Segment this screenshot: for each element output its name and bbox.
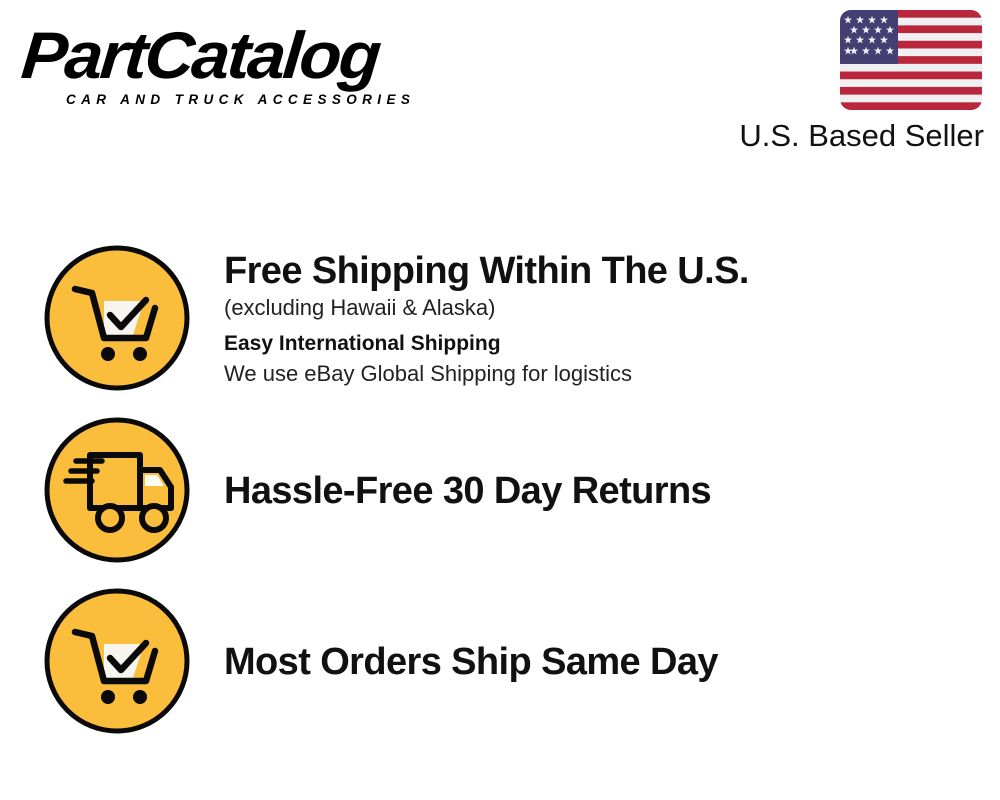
- site-logo[interactable]: PartCatalog CAR AND TRUCK ACCESSORIES: [22, 22, 492, 108]
- feature-text: Free Shipping Within The U.S. (excluding…: [224, 247, 1000, 389]
- feature-title: Free Shipping Within The U.S.: [224, 249, 1000, 293]
- feature-text: Hassle-Free 30 Day Returns: [224, 467, 1000, 513]
- logo-tagline: CAR AND TRUCK ACCESSORIES: [66, 92, 492, 108]
- us-based-seller-label: U.S. Based Seller: [739, 118, 984, 154]
- feature-subtitle-strong: Easy International Shipping: [224, 329, 1000, 359]
- feature-title: Most Orders Ship Same Day: [224, 640, 1000, 684]
- us-flag-icon: [840, 10, 982, 110]
- logo-wordmark: PartCatalog: [19, 22, 514, 88]
- feature-title: Hassle-Free 30 Day Returns: [224, 469, 1000, 513]
- shopping-cart-check-icon: [42, 243, 192, 393]
- feature-row: Hassle-Free 30 Day Returns: [0, 410, 1000, 570]
- feature-row: Free Shipping Within The U.S. (excluding…: [0, 238, 1000, 398]
- feature-subtitle: We use eBay Global Shipping for logistic…: [224, 359, 1000, 389]
- feature-text: Most Orders Ship Same Day: [224, 638, 1000, 684]
- delivery-truck-icon: [42, 415, 192, 565]
- shopping-cart-check-icon: [42, 586, 192, 736]
- feature-row: Most Orders Ship Same Day: [0, 580, 1000, 742]
- brand-header: PartCatalog CAR AND TRUCK ACCESSORIES: [0, 0, 1000, 170]
- feature-note: (excluding Hawaii & Alaska): [224, 293, 1000, 323]
